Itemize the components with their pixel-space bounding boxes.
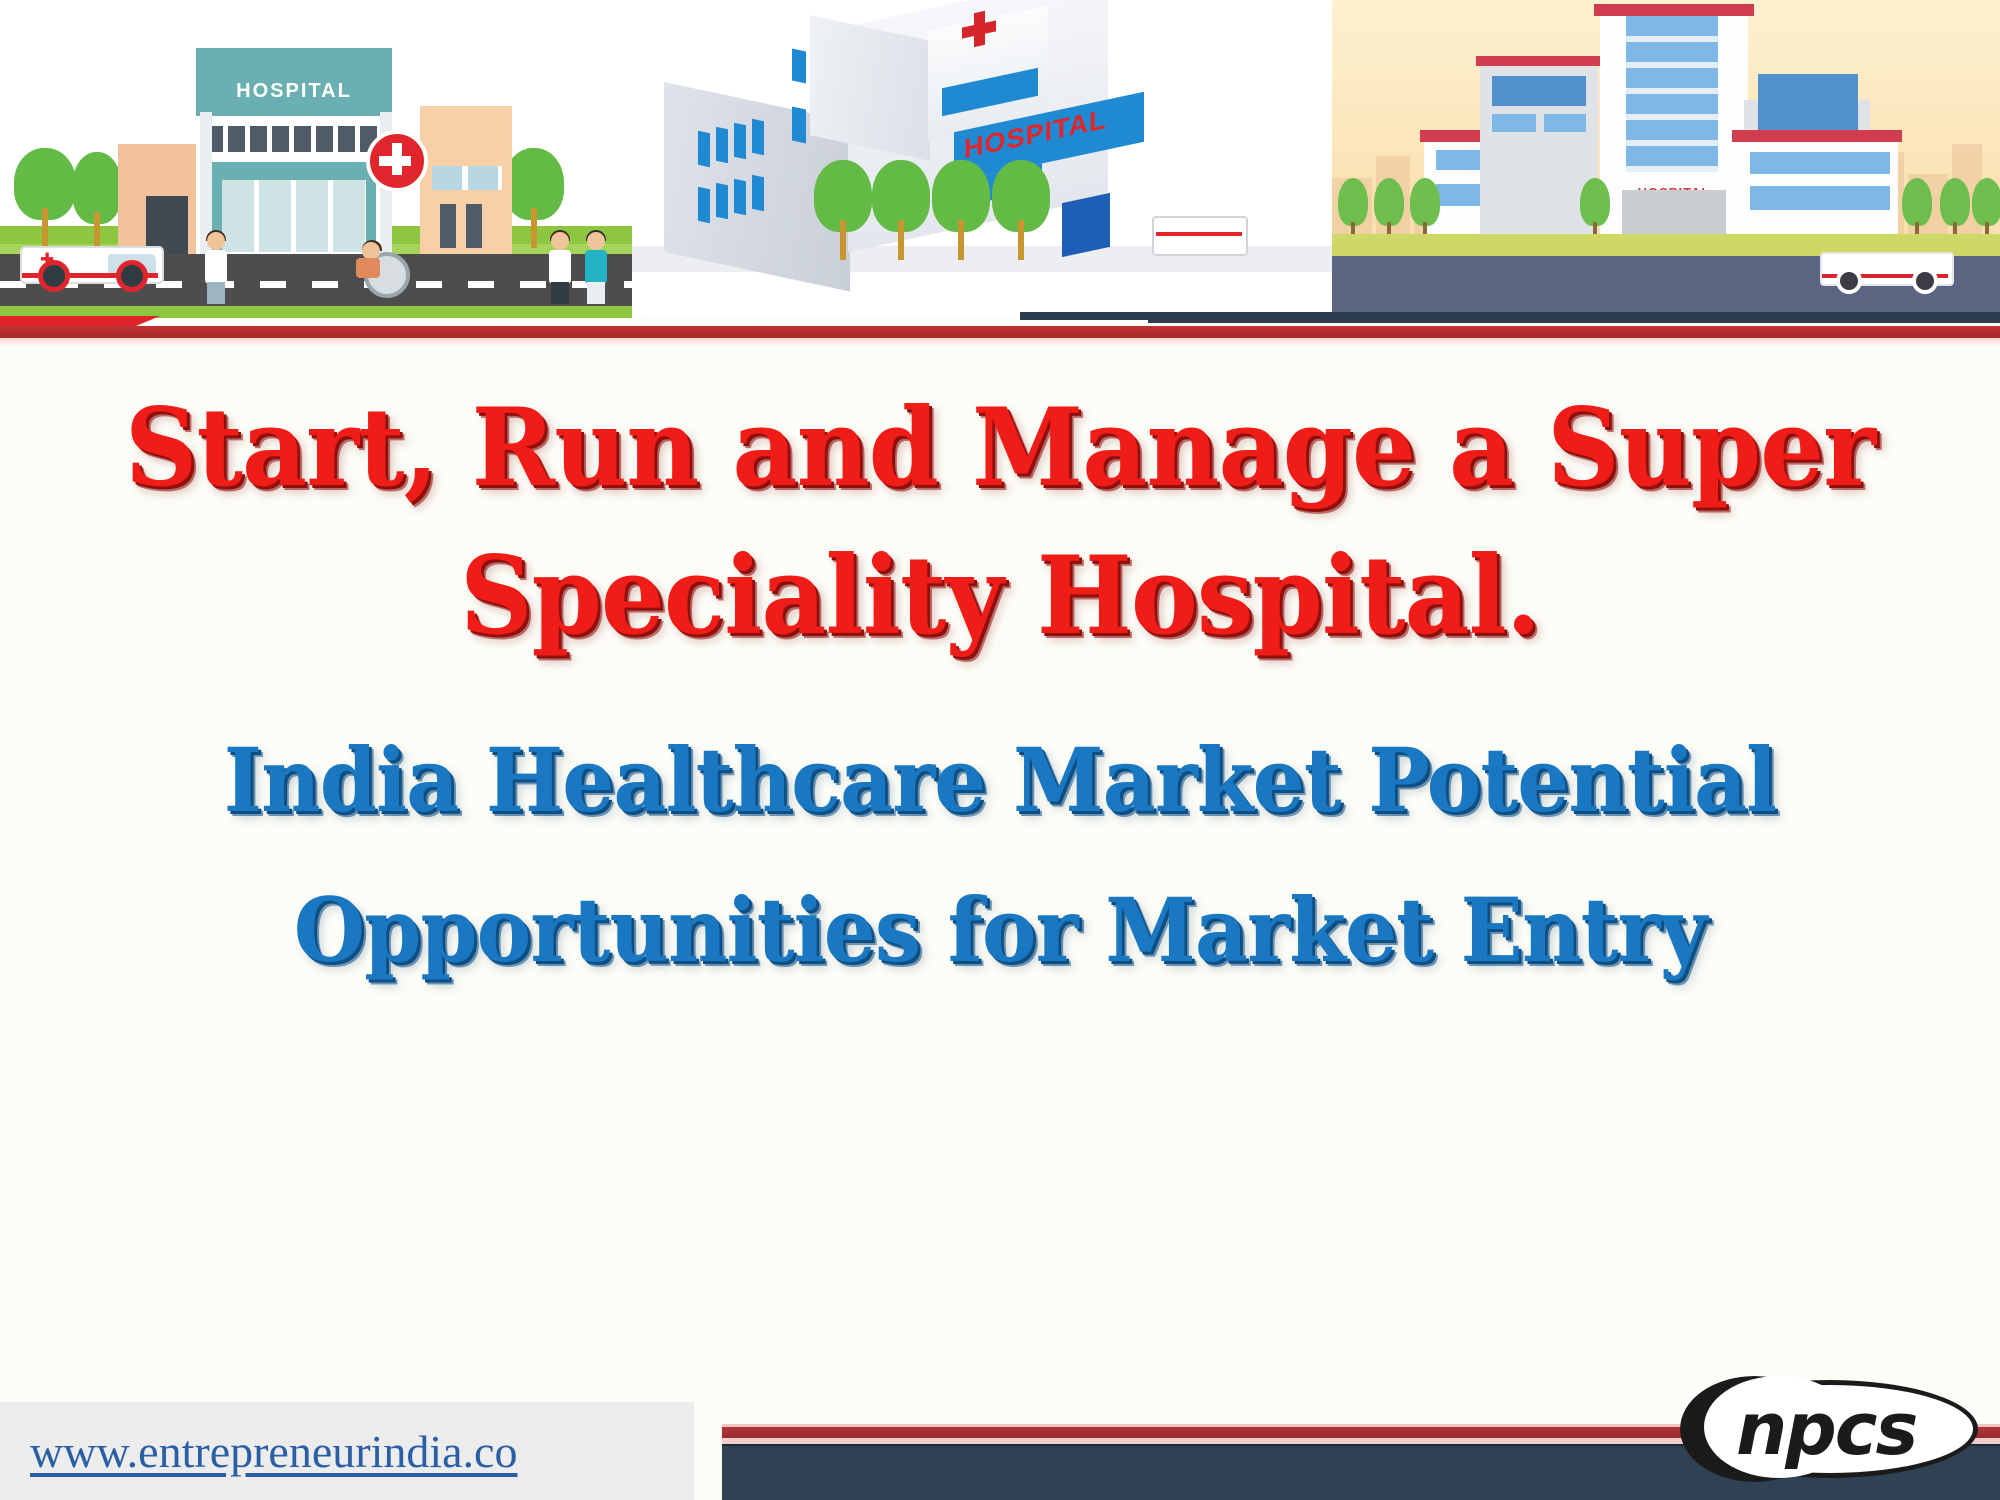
roof-accent [1476,56,1602,66]
tree-icon [1902,178,1932,234]
window [792,107,806,144]
ambulance-icon [1152,216,1248,256]
divider-dark-segment [1020,312,2000,323]
hospital-entrance [1622,190,1726,234]
window-band [1492,76,1586,106]
window [1544,114,1586,132]
red-cross-icon [962,8,996,49]
tree-icon [1972,178,2000,234]
tree-icon [992,164,1050,260]
website-url-link[interactable]: www.entrepreneurindia.co [30,1425,517,1478]
tree-icon [1580,168,1610,234]
roof-accent [1732,130,1902,142]
divider-fade [0,338,2000,347]
entrance-doors [222,180,366,252]
window [466,204,482,248]
page-title-line-1: Start, Run and Manage a Super [70,394,1930,502]
npcs-logo[interactable]: npcs [1682,1374,1982,1486]
window-row [206,126,382,152]
tree-icon [872,160,930,260]
ambulance-icon: ✚ [20,244,160,292]
tree-icon [72,164,122,252]
website-url-box: www.entrepreneurindia.co [0,1402,694,1500]
window [752,175,764,212]
divider-red-band [0,326,2000,338]
header-image-flat-hospital: HOSPITAL ✚ [0,0,632,318]
patient-wheelchair-icon [352,242,404,298]
tree-icon [932,160,990,260]
entrance-door [1062,193,1110,257]
page-subtitle-line-2: Opportunities for Market Entry [70,886,1930,974]
window [792,49,806,84]
ambulance-icon [1820,254,1950,294]
window [752,119,764,156]
roof-accent [1594,4,1754,16]
window-band [1750,186,1890,210]
tree-icon [1374,170,1404,234]
window [698,187,710,224]
window [440,204,456,248]
window [716,127,728,164]
window-row [432,166,502,190]
page-title-line-2: Speciality Hospital. [70,542,1930,650]
window [1492,114,1536,132]
page-subtitle-line-1: India Healthcare Market Potential [70,736,1930,824]
window [734,179,746,216]
tree-icon [1410,178,1440,234]
npcs-logo-text: npcs [1736,1388,1976,1470]
window [698,131,710,168]
hospital-sign-text: HOSPITAL [196,80,392,103]
window [734,123,746,160]
footer: www.entrepreneurindia.co npcs [0,1378,2000,1500]
doctor-figure [204,232,228,304]
tree-icon [814,164,872,260]
header-image-city-hospital: HOSPITAL [1332,0,2000,318]
window-band [1750,152,1890,174]
divider-white-line [0,320,1148,325]
tower-glass-facade [1626,16,1718,172]
window [716,183,728,220]
doctor-figure [548,232,572,304]
slide-content: Start, Run and Manage a Super Speciality… [0,346,2000,1376]
tree-icon [1338,178,1368,234]
header-image-isometric-hospital: HOSPITAL [632,0,1332,318]
tree-icon [1940,170,1970,234]
building-tower-left [810,15,930,161]
nurse-figure [584,232,608,304]
red-cross-icon [366,130,428,192]
header-image-band: HOSPITAL ✚ [0,0,2000,318]
tree-icon [14,148,76,248]
header-divider-stripes [0,312,2000,346]
